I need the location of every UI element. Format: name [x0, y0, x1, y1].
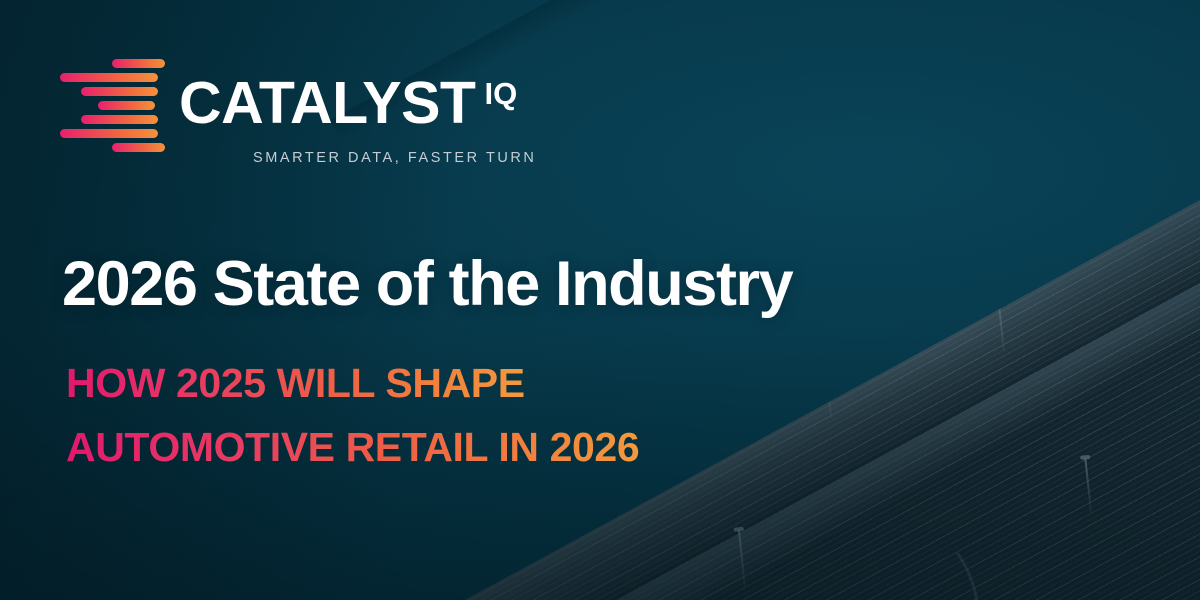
logomark-bar-2: [60, 73, 158, 82]
logomark-bar-7: [112, 143, 165, 152]
subtitle-line-2: AUTOMOTIVE RETAIL IN 2026: [66, 427, 639, 468]
logo-row: CATALYST IQ: [60, 58, 536, 148]
logomark-bar-4: [98, 101, 155, 110]
bars-logomark-icon: [60, 59, 165, 147]
logomark-bar-3: [81, 87, 158, 96]
page-title: 2026 State of the Industry: [62, 252, 792, 318]
logomark-bar-5: [81, 115, 158, 124]
subtitle-line-1: HOW 2025 WILL SHAPE: [66, 363, 525, 404]
brand-suffix-group: IQ: [484, 78, 517, 109]
logo-lockup[interactable]: CATALYST IQ SMARTER DATA, FASTER TURN: [60, 58, 536, 166]
logomark-bar-1: [112, 59, 165, 68]
marketing-banner: CATALYST IQ SMARTER DATA, FASTER TURN 20…: [0, 0, 1200, 600]
brand-name: CATALYST: [179, 76, 475, 130]
logomark-bar-6: [60, 129, 158, 138]
wordmark: CATALYST IQ: [179, 76, 517, 130]
brand-suffix: IQ: [484, 78, 517, 109]
brand-tagline: SMARTER DATA, FASTER TURN: [253, 150, 536, 166]
